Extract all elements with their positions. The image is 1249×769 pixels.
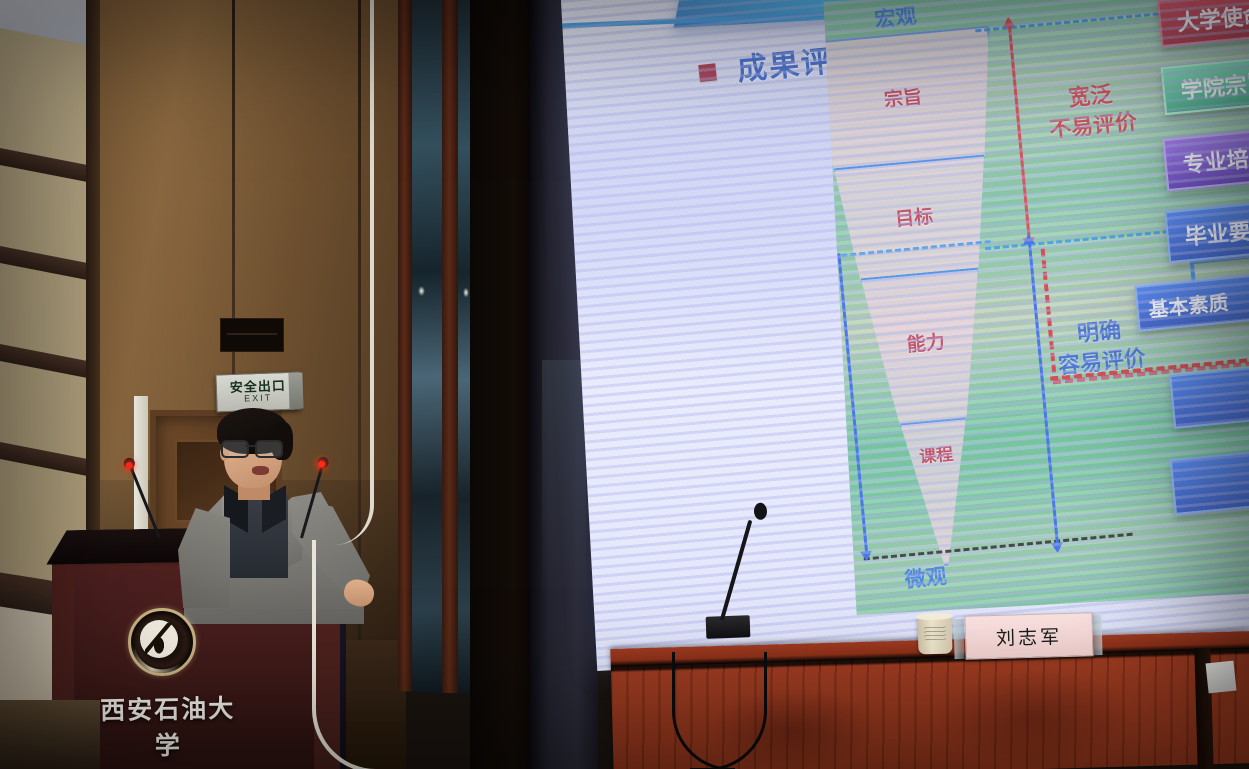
box-college-goals: 学院宗旨目标 [1161, 41, 1249, 115]
name-plate: 刘志军 [964, 612, 1093, 660]
box-graduation-requirements: 毕业要求 [1164, 185, 1249, 263]
funnel-diagram: 宗旨 目标 能力 课程 [823, 26, 1033, 570]
funnel-segment-purpose: 宗旨 [823, 25, 1000, 173]
funnel-label-purpose: 宗旨 [823, 75, 993, 119]
label-macro: 宏观 [873, 0, 918, 34]
power-cable [312, 540, 376, 769]
paper-cup [917, 616, 952, 655]
note-broad: 宽泛 不易评价 [1045, 77, 1138, 145]
exit-sign-en: EXIT [217, 392, 299, 405]
podium-institution-name: 西安石油大学 [95, 689, 240, 764]
university-emblem-icon [128, 608, 196, 676]
note-clear: 明确 容易评价 [1054, 313, 1147, 381]
funnel-label-goal: 目标 [823, 195, 1004, 239]
table-microphone [706, 615, 751, 639]
arrow-broad [1008, 26, 1031, 239]
box-course-unit: 课程单元 [1170, 434, 1249, 515]
title-bullet-icon [698, 63, 717, 82]
screenshot-stage: 安全出口 EXIT 成果评价框架图 宏观 微观 宗旨 [0, 0, 1249, 769]
funnel-segment-ability: 能力 [828, 264, 1025, 432]
stage-floor [0, 700, 100, 769]
diagram-panel: 宏观 微观 宗旨 目标 能力 课程 [823, 0, 1249, 615]
projection-screen: 成果评价框架图 宏观 微观 宗旨 目标 能力 课程 [560, 0, 1249, 671]
wall-vent [220, 318, 284, 352]
name-plate-text: 刘志军 [996, 622, 1063, 651]
funnel-segment-goal: 目标 [823, 153, 1011, 286]
glasses-icon [221, 440, 285, 454]
funnel-label-ability: 能力 [835, 320, 1017, 364]
label-micro: 微观 [903, 560, 948, 594]
box-university-mission: 大学使命愿景 [1157, 0, 1249, 47]
power-cable-upper [330, 0, 374, 545]
box-program-objectives: 专业培养目标 [1162, 113, 1249, 191]
table-tag [1206, 661, 1237, 694]
speaker-left-arm [178, 508, 230, 608]
funnel-label-course: 课程 [846, 438, 1027, 475]
